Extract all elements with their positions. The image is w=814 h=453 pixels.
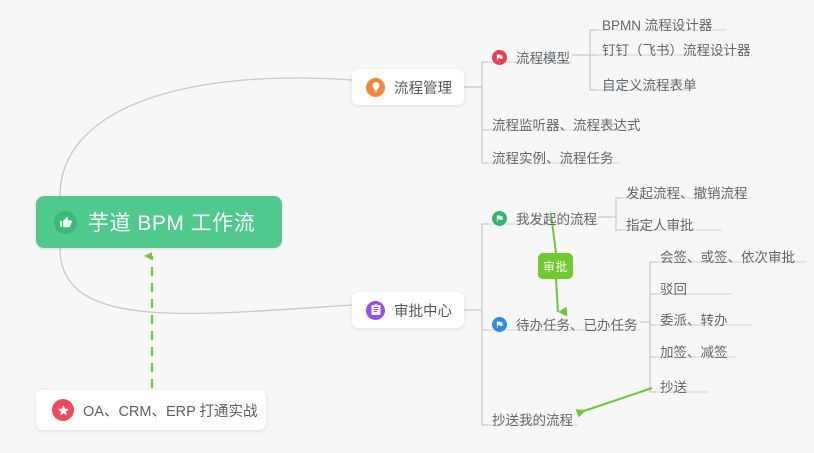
root-label: 芋道 BPM 工作流: [88, 207, 255, 237]
leaf-assignee-approval[interactable]: 指定人审批: [626, 212, 694, 239]
integration-note-node[interactable]: OA、CRM、ERP 打通实战: [36, 390, 266, 430]
leaf-label-assignee-approval: 指定人审批: [626, 214, 694, 234]
leaf-bpmn-designer[interactable]: BPMN 流程设计器: [602, 12, 712, 39]
leaf-label-todo-done-tasks: 待办任务、已办任务: [516, 314, 638, 334]
leaf-add-remove-sign[interactable]: 加签、减签: [660, 339, 728, 366]
branch-node-process-management[interactable]: 流程管理: [352, 69, 464, 105]
leaf-start-cancel-process[interactable]: 发起流程、撤销流程: [626, 180, 748, 207]
integration-note-label: OA、CRM、ERP 打通实战: [83, 400, 258, 421]
leaf-delegate-transfer[interactable]: 委派、转办: [660, 307, 728, 334]
leaf-todo-done-tasks[interactable]: 待办任务、已办任务: [492, 312, 638, 339]
star-icon: [52, 399, 74, 421]
flag-red-icon: [492, 50, 507, 65]
leaf-label-add-remove-sign: 加签、减签: [660, 341, 728, 361]
leaf-process-model[interactable]: 流程模型: [492, 45, 570, 72]
leaf-label-custom-process-form: 自定义流程表单: [602, 74, 697, 94]
leaf-label-reject: 驳回: [660, 278, 687, 298]
approval-annotation-label: 审批: [543, 258, 568, 275]
lightbulb-icon: [366, 78, 385, 97]
leaf-custom-process-form[interactable]: 自定义流程表单: [602, 72, 697, 99]
leaf-label-countersign-orsign-sequential: 会签、或签、依次审批: [660, 246, 795, 266]
leaf-reject[interactable]: 驳回: [660, 276, 687, 303]
leaf-dingtalk-feishu-designer[interactable]: 钉钉（飞书）流程设计器: [602, 37, 751, 64]
leaf-label-process-listener-expression: 流程监听器、流程表达式: [492, 114, 641, 134]
leaf-cc-to-me-process[interactable]: 抄送我的流程: [492, 407, 573, 434]
flag-blue-icon: [492, 317, 507, 332]
mindmap-canvas: 芋道 BPM 工作流 OA、CRM、ERP 打通实战 流程管理 流程模型 流程监…: [0, 0, 814, 453]
leaf-label-delegate-transfer: 委派、转办: [660, 309, 728, 329]
leaf-cc[interactable]: 抄送: [660, 374, 687, 401]
leaf-countersign-orsign-sequential[interactable]: 会签、或签、依次审批: [660, 244, 795, 271]
leaf-label-start-cancel-process: 发起流程、撤销流程: [626, 182, 748, 202]
leaf-label-bpmn-designer: BPMN 流程设计器: [602, 14, 712, 34]
branch-node-approval-center[interactable]: 审批中心: [352, 292, 464, 328]
flag-green-icon: [492, 211, 507, 226]
leaf-label-process-instance-task: 流程实例、流程任务: [492, 147, 614, 167]
clipboard-icon: [366, 301, 385, 320]
leaf-my-initiated-process[interactable]: 我发起的流程: [492, 206, 597, 233]
leaf-label-my-initiated-process: 我发起的流程: [516, 208, 597, 228]
leaf-label-dingtalk-feishu-designer: 钉钉（飞书）流程设计器: [602, 39, 751, 59]
leaf-process-listener-expression[interactable]: 流程监听器、流程表达式: [492, 112, 641, 139]
branch-label-approval-center: 审批中心: [394, 300, 452, 321]
leaf-label-cc: 抄送: [660, 376, 687, 396]
leaf-label-cc-to-me-process: 抄送我的流程: [492, 409, 573, 429]
root-node[interactable]: 芋道 BPM 工作流: [36, 196, 282, 248]
thumbs-up-icon: [54, 211, 77, 234]
leaf-process-instance-task[interactable]: 流程实例、流程任务: [492, 145, 614, 172]
branch-label-process-management: 流程管理: [394, 77, 452, 98]
approval-annotation-badge[interactable]: 审批: [538, 253, 573, 279]
leaf-label-process-model: 流程模型: [516, 47, 570, 67]
